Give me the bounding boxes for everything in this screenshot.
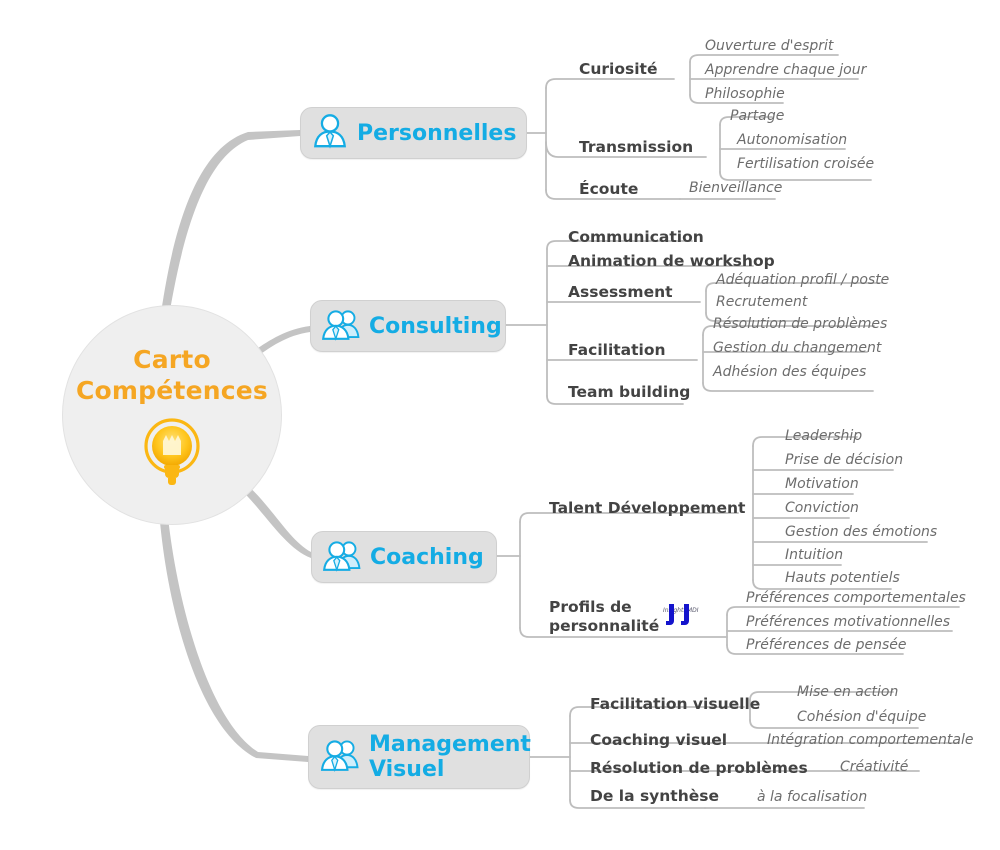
wire-leaf-fertilisation (720, 172, 871, 180)
leaf-adhesion-des-equipes[interactable]: Adhésion des équipes (713, 364, 866, 381)
leaf-preferences-comportementales[interactable]: Préférences comportementales (746, 590, 966, 607)
leaf-preferences-de-pensee[interactable]: Préférences de pensée (746, 637, 907, 654)
three-person-icon (319, 735, 361, 779)
leaf-recrutement[interactable]: Recrutement (716, 294, 807, 311)
leaf-motivation[interactable]: Motivation (785, 476, 859, 493)
leaf-intuition[interactable]: Intuition (785, 547, 843, 564)
wire-curiosite (546, 79, 674, 88)
leaf-leadership[interactable]: Leadership (785, 428, 862, 445)
leaf-philosophie[interactable]: Philosophie (705, 86, 785, 103)
leaf-ouverture-desprit[interactable]: Ouverture d'esprit (705, 38, 833, 55)
sub-label-profils-personnalite[interactable]: Profils de personnalité (549, 598, 659, 636)
branch-label: Personnelles (357, 121, 516, 146)
leaf-partage[interactable]: Partage (730, 108, 784, 125)
sub-label-de-la-synthese[interactable]: De la synthèse (590, 787, 719, 806)
branch-personnelles[interactable]: Personnelles (300, 107, 527, 159)
sub-label-coaching-visuel[interactable]: Coaching visuel (590, 731, 727, 750)
leaf-creativite[interactable]: Créativité (840, 759, 908, 776)
leaf-hauts-potentiels[interactable]: Hauts potentiels (785, 570, 900, 587)
branch-consulting[interactable]: Consulting (310, 300, 506, 352)
leaf-prise-de-decision[interactable]: Prise de décision (785, 452, 903, 469)
single-person-icon (311, 112, 349, 154)
sub-label-facilitation-visuelle[interactable]: Facilitation visuelle (590, 695, 760, 714)
central-node[interactable]: Carto Compétences (62, 305, 282, 525)
leaf-resolution-de-problemes[interactable]: Résolution de problèmes (713, 316, 887, 333)
two-person-icon (322, 536, 362, 578)
svg-text:Insights: Insights (663, 607, 686, 614)
branch-label: Consulting (369, 314, 502, 339)
branch-label: Coaching (370, 545, 484, 570)
branch-label: Management Visuel (369, 732, 531, 782)
insights-logo-icon: Insights MDI (661, 598, 705, 636)
leaf-adequation-profil-poste[interactable]: Adéquation profil / poste (716, 272, 889, 289)
sub-label-facilitation[interactable]: Facilitation (568, 341, 666, 360)
leaf-integration-comportementale[interactable]: Intégration comportementale (767, 732, 974, 749)
two-person-icon (321, 305, 361, 347)
page-title: Carto Compétences (63, 344, 281, 406)
branch-coaching[interactable]: Coaching (311, 531, 497, 583)
mindmap-canvas: Carto Compétences (0, 0, 1000, 850)
leaf-gestion-des-emotions[interactable]: Gestion des émotions (785, 524, 937, 541)
leaf-mise-en-action[interactable]: Mise en action (797, 684, 898, 701)
sub-label-resolution-de-problemes[interactable]: Résolution de problèmes (590, 759, 808, 778)
sub-label-transmission[interactable]: Transmission (579, 138, 693, 157)
lightbulb-icon (141, 416, 203, 494)
sub-label-team-building[interactable]: Team building (568, 383, 690, 402)
wire-leaf-ouverture (690, 55, 838, 62)
leaf-gestion-du-changement[interactable]: Gestion du changement (713, 340, 881, 357)
leaf-cohesion-dequipe[interactable]: Cohésion d'équipe (797, 709, 926, 726)
sub-label-ecoute[interactable]: Écoute (579, 180, 638, 199)
leaf-preferences-motivationnelles[interactable]: Préférences motivationnelles (746, 614, 950, 631)
leaf-fertilisation-croisee[interactable]: Fertilisation croisée (737, 156, 874, 173)
leaf-apprendre-chaque-jour[interactable]: Apprendre chaque jour (705, 62, 866, 79)
leaf-bienveillance[interactable]: Bienveillance (689, 180, 782, 197)
wire-leaf-adhesion (703, 383, 873, 391)
branch-management-visuel[interactable]: Management Visuel (308, 725, 530, 789)
sub-label-communication[interactable]: Communication (568, 228, 704, 247)
sub-label-animation-workshop[interactable]: Animation de workshop (568, 252, 775, 271)
leaf-autonomisation[interactable]: Autonomisation (737, 132, 847, 149)
leaf-conviction[interactable]: Conviction (785, 500, 859, 517)
sub-label-assessment[interactable]: Assessment (568, 283, 673, 302)
leaf-a-la-focalisation[interactable]: à la focalisation (757, 789, 867, 806)
sub-label-talent-developpement[interactable]: Talent Développement (549, 499, 745, 518)
sub-label-curiosite[interactable]: Curiosité (579, 60, 657, 79)
